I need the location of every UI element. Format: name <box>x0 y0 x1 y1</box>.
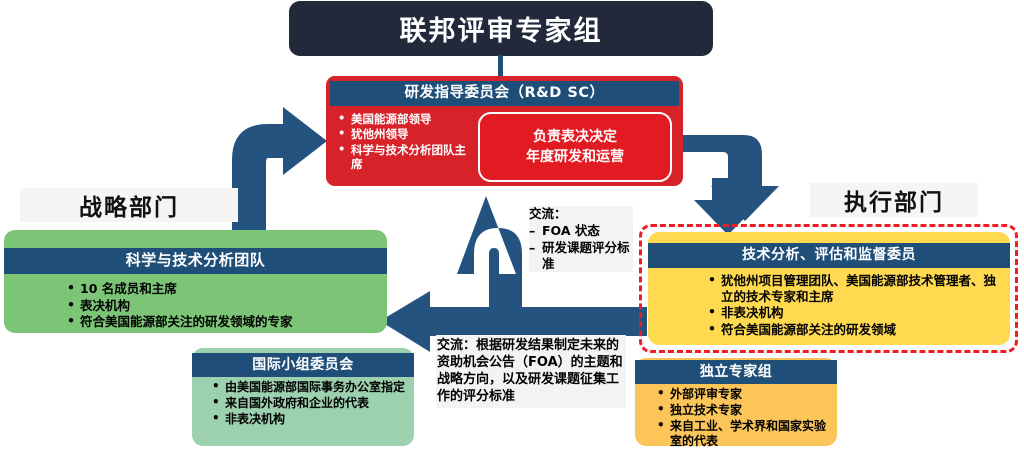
independent-expert-group-body: 外部评审专家 独立技术专家 来自工业、学术界和国家实验室的代表 <box>657 387 837 449</box>
list-item: 10 名成员和主席 <box>67 281 382 297</box>
list-item: 外部评审专家 <box>657 387 837 402</box>
federal-review-panel-title: 联邦评审专家组 <box>400 9 603 48</box>
list-item: 犹他州项目管理团队、美国能源部技术管理者、独立的技术专家和主席 <box>708 273 1008 304</box>
org-chart-diagram: 联邦评审专家组 研发指导委员会（R&D SC） 美国能源部领导 犹他州领导 科学… <box>0 0 1024 449</box>
annotation-upward-flow-title: 交流： <box>529 206 633 222</box>
federal-review-panel-box[interactable]: 联邦评审专家组 <box>289 1 713 56</box>
international-subcommittee-body: 由美国能源部国际事务办公室指定 来自国外政府和企业的代表 非表决机构 <box>212 380 412 428</box>
arrow-strategy-to-rdsc <box>232 107 327 230</box>
list-item: 科学与技术分析团队主席 <box>338 143 474 172</box>
technical-analysis-committee-body: 犹他州项目管理团队、美国能源部技术管理者、独立的技术专家和主席 非表决机构 符合… <box>708 273 1008 339</box>
annotation-leftward-flow: 交流：根据研发结果制定未来的资助机会公告（FOA）的主题和战略方向，以及研发课题… <box>436 335 626 408</box>
list-item: 犹他州领导 <box>338 127 474 141</box>
arrow-exec-to-rdsc <box>457 196 522 322</box>
list-item: 来自工业、学术界和国家实验室的代表 <box>657 419 837 449</box>
list-item: 美国能源部领导 <box>338 112 474 126</box>
arrow-rdsc-to-exec <box>683 135 779 221</box>
science-tech-analysis-team-header: 科学与技术分析团队 <box>4 248 387 274</box>
list-item: 符合美国能源部关注的研发领域的专家 <box>67 314 382 330</box>
international-subcommittee-box[interactable]: 国际小组委员会 由美国能源部国际事务办公室指定 来自国外政府和企业的代表 非表决… <box>192 348 414 446</box>
independent-expert-group-header: 独立专家组 <box>635 360 837 384</box>
list-item: 非表决机构 <box>212 412 412 427</box>
international-subcommittee-header: 国际小组委员会 <box>192 353 414 377</box>
independent-expert-group-box[interactable]: 独立专家组 外部评审专家 独立技术专家 来自工业、学术界和国家实验室的代表 <box>635 358 837 446</box>
technical-analysis-committee-bullets: 犹他州项目管理团队、美国能源部技术管理者、独立的技术专家和主席 非表决机构 符合… <box>708 273 1008 338</box>
strategy-division-label: 战略部门 <box>20 188 238 222</box>
annotation-upward-flow-items: FOA 状态 研发课题评分标准 <box>529 223 633 272</box>
technical-analysis-committee-box[interactable]: 技术分析、评估和监督委员 犹他州项目管理团队、美国能源部技术管理者、独立的技术专… <box>648 232 1010 345</box>
list-item: 由美国能源部国际事务办公室指定 <box>212 380 412 395</box>
rd-steering-committee-header: 研发指导委员会（R&D SC） <box>330 81 679 106</box>
list-item: 独立技术专家 <box>657 403 837 418</box>
list-item: 研发课题评分标准 <box>529 240 633 273</box>
list-item: 非表决机构 <box>708 305 1008 321</box>
role-callout-line-1: 负责表决决定 <box>533 127 617 147</box>
rd-steering-committee-box[interactable]: 研发指导委员会（R&D SC） 美国能源部领导 犹他州领导 科学与技术分析团队主… <box>326 76 683 186</box>
technical-analysis-committee-header: 技术分析、评估和监督委员 <box>648 243 1010 268</box>
list-item: FOA 状态 <box>529 223 633 239</box>
list-item: 来自国外政府和企业的代表 <box>212 396 412 411</box>
execution-division-label: 执行部门 <box>810 183 978 217</box>
annotation-upward-flow: 交流： FOA 状态 研发课题评分标准 <box>529 206 633 272</box>
science-tech-analysis-team-body: 10 名成员和主席 表决机构 符合美国能源部关注的研发领域的专家 <box>67 281 382 331</box>
list-item: 符合美国能源部关注的研发领域 <box>708 322 1008 338</box>
international-subcommittee-bullets: 由美国能源部国际事务办公室指定 来自国外政府和企业的代表 非表决机构 <box>212 380 412 427</box>
independent-expert-group-bullets: 外部评审专家 独立技术专家 来自工业、学术界和国家实验室的代表 <box>657 387 837 449</box>
science-tech-analysis-team-box[interactable]: 科学与技术分析团队 10 名成员和主席 表决机构 符合美国能源部关注的研发领域的… <box>4 230 387 333</box>
science-tech-analysis-team-bullets: 10 名成员和主席 表决机构 符合美国能源部关注的研发领域的专家 <box>67 281 382 330</box>
rd-steering-committee-role-callout: 负责表决决定 年度研发和运营 <box>478 112 672 182</box>
rd-steering-committee-bullets: 美国能源部领导 犹他州领导 科学与技术分析团队主席 <box>338 112 474 173</box>
list-item: 表决机构 <box>67 298 382 314</box>
role-callout-line-2: 年度研发和运营 <box>526 147 624 167</box>
